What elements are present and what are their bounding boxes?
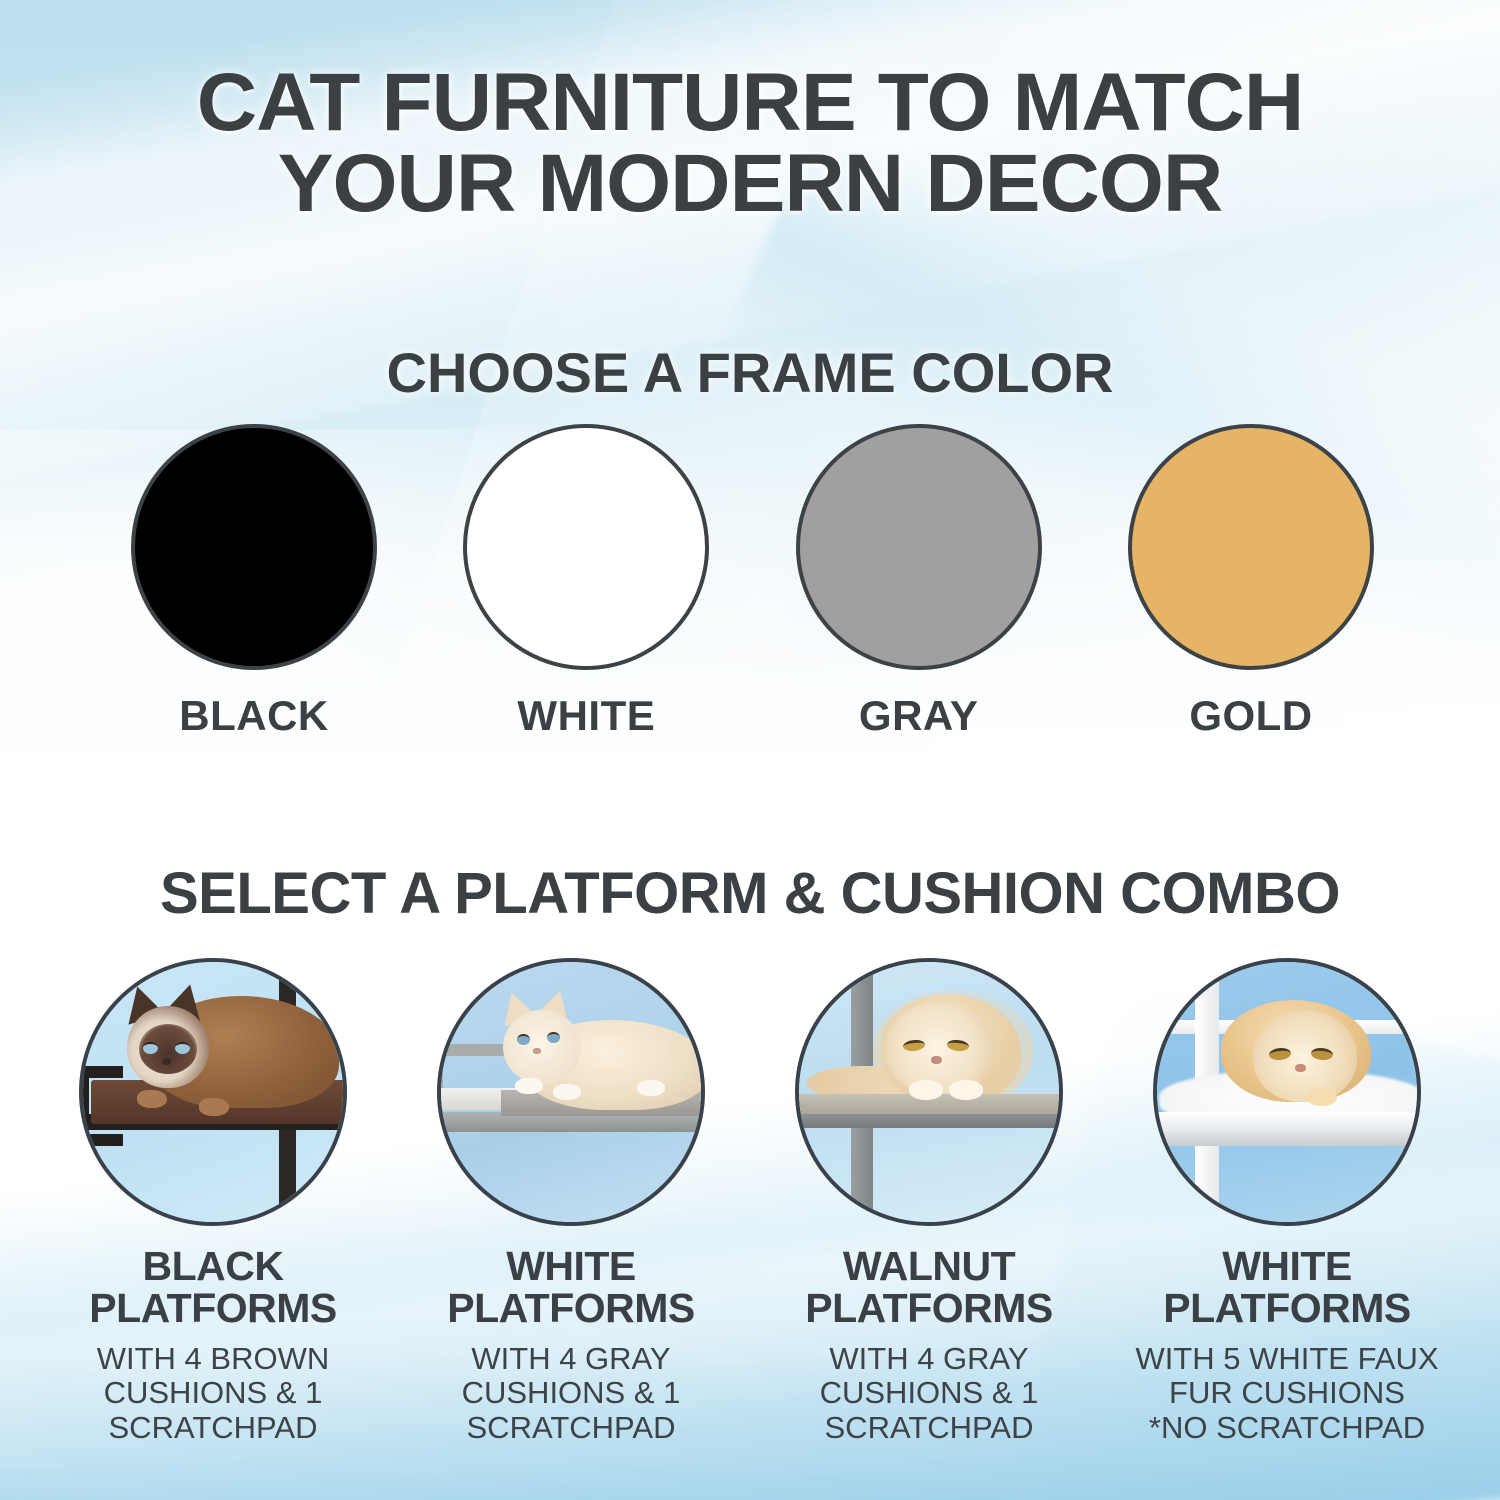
combo-heading: WALNUT PLATFORMS (805, 1246, 1053, 1330)
color-swatch-label: BLACK (179, 692, 328, 740)
combo-heading: WHITE PLATFORMS (447, 1246, 695, 1330)
combo-description-line-3: *NO SCRATCHPAD (1149, 1410, 1425, 1445)
frame-color-section-title: CHOOSE A FRAME COLOR (0, 340, 1500, 405)
combo-heading-line-2: PLATFORMS (447, 1285, 695, 1331)
combo-description-line-2: FUR CUSHIONS (1169, 1375, 1405, 1410)
photo-scene (1157, 962, 1417, 1222)
color-swatch-white[interactable] (463, 424, 709, 670)
combo-description-line-3: SCRATCHPAD (109, 1410, 318, 1445)
combo-heading-line-1: WHITE (1222, 1243, 1352, 1289)
cat-nose (1295, 1064, 1306, 1072)
cat-paw-front (1307, 1088, 1337, 1106)
product-photo-walnut-platforms[interactable] (795, 958, 1063, 1226)
combo-description-line-1: WITH 4 GRAY (471, 1341, 670, 1376)
platform-shelf (1153, 1112, 1421, 1134)
photo-scene (799, 962, 1059, 1222)
combo-description: WITH 4 BROWN CUSHIONS & 1 SCRATCHPAD (97, 1342, 330, 1446)
cat-paw-left (515, 1078, 543, 1094)
combo-heading-line-1: WALNUT (843, 1243, 1015, 1289)
color-swatch-label: WHITE (517, 692, 655, 740)
color-swatch-label: GOLD (1189, 692, 1312, 740)
photo-scene (441, 962, 701, 1222)
cat-eye-right (175, 1042, 190, 1054)
cat-nose (931, 1056, 942, 1064)
cat-paw-rear (637, 1080, 665, 1096)
cat-paw-right (949, 1080, 983, 1100)
cat-paw-left (909, 1080, 943, 1100)
combo-heading-line-2: PLATFORMS (89, 1285, 337, 1331)
page-title-line-2: YOUR MODERN DECOR (0, 143, 1500, 224)
combo-description-line-1: WITH 4 GRAY (829, 1341, 1028, 1376)
combo-heading-line-2: PLATFORMS (1163, 1285, 1411, 1331)
combo-description-line-2: CUSHIONS & 1 (820, 1375, 1039, 1410)
cat-nose (533, 1048, 541, 1054)
cat-eye-left (517, 1034, 530, 1045)
photo-scene (83, 962, 343, 1222)
cat-eye-left (143, 1042, 158, 1054)
product-infographic: CAT FURNITURE TO MATCH YOUR MODERN DECOR… (0, 0, 1500, 1500)
combo-heading: WHITE PLATFORMS (1163, 1246, 1411, 1330)
combo-description-line-1: WITH 4 BROWN (97, 1341, 330, 1376)
combo-option-row: BLACK PLATFORMS WITH 4 BROWN CUSHIONS & … (48, 958, 1452, 1446)
combo-description-line-3: SCRATCHPAD (467, 1410, 676, 1445)
color-swatch-label: GRAY (859, 692, 979, 740)
product-photo-white-platforms-faux-fur[interactable] (1153, 958, 1421, 1226)
combo-description: WITH 5 WHITE FAUX FUR CUSHIONS *NO SCRAT… (1135, 1342, 1438, 1446)
frame-color-option-gold[interactable]: GOLD (1127, 424, 1375, 740)
platform-shelf-edge (795, 1114, 1063, 1128)
combo-description: WITH 4 GRAY CUSHIONS & 1 SCRATCHPAD (462, 1342, 681, 1446)
cat-paw-right (199, 1098, 229, 1116)
combo-option-white-platforms-gray[interactable]: WHITE PLATFORMS WITH 4 GRAY CUSHIONS & 1… (406, 958, 736, 1446)
combo-heading-line-1: BLACK (143, 1243, 284, 1289)
page-title: CAT FURNITURE TO MATCH YOUR MODERN DECOR (0, 62, 1500, 224)
page-title-line-1: CAT FURNITURE TO MATCH (0, 62, 1500, 143)
cat-head (503, 1010, 581, 1084)
color-swatch-gray[interactable] (796, 424, 1042, 670)
color-swatch-gold[interactable] (1128, 424, 1374, 670)
combo-heading-line-2: PLATFORMS (805, 1285, 1053, 1331)
combo-description-line-3: SCRATCHPAD (825, 1410, 1034, 1445)
combo-description: WITH 4 GRAY CUSHIONS & 1 SCRATCHPAD (820, 1342, 1039, 1446)
frame-color-option-black[interactable]: BLACK (130, 424, 378, 740)
combo-description-line-2: CUSHIONS & 1 (462, 1375, 681, 1410)
product-photo-white-platforms-gray[interactable] (437, 958, 705, 1226)
combo-option-walnut-platforms[interactable]: WALNUT PLATFORMS WITH 4 GRAY CUSHIONS & … (764, 958, 1094, 1446)
combo-heading: BLACK PLATFORMS (89, 1246, 337, 1330)
cat-paw-left (137, 1090, 167, 1108)
combo-description-line-1: WITH 5 WHITE FAUX (1135, 1341, 1438, 1376)
combo-option-black-platforms[interactable]: BLACK PLATFORMS WITH 4 BROWN CUSHIONS & … (48, 958, 378, 1446)
cat-eye-right (547, 1032, 560, 1043)
combo-description-line-2: CUSHIONS & 1 (104, 1375, 323, 1410)
frame-color-option-gray[interactable]: GRAY (795, 424, 1043, 740)
combo-option-white-platforms-faux-fur[interactable]: WHITE PLATFORMS WITH 5 WHITE FAUX FUR CU… (1122, 958, 1452, 1446)
cat-paw-right (553, 1084, 581, 1100)
frame-color-option-white[interactable]: WHITE (462, 424, 710, 740)
cat-head (885, 1002, 993, 1094)
color-swatch-black[interactable] (131, 424, 377, 670)
frame-color-swatch-row: BLACK WHITE GRAY GOLD (130, 424, 1375, 740)
combo-heading-line-1: WHITE (506, 1243, 636, 1289)
cat-nose (162, 1058, 171, 1065)
product-photo-black-platforms[interactable] (79, 958, 347, 1226)
platform-shelf-edge (1153, 1132, 1421, 1146)
combo-section-title: SELECT A PLATFORM & CUSHION COMBO (0, 860, 1500, 927)
